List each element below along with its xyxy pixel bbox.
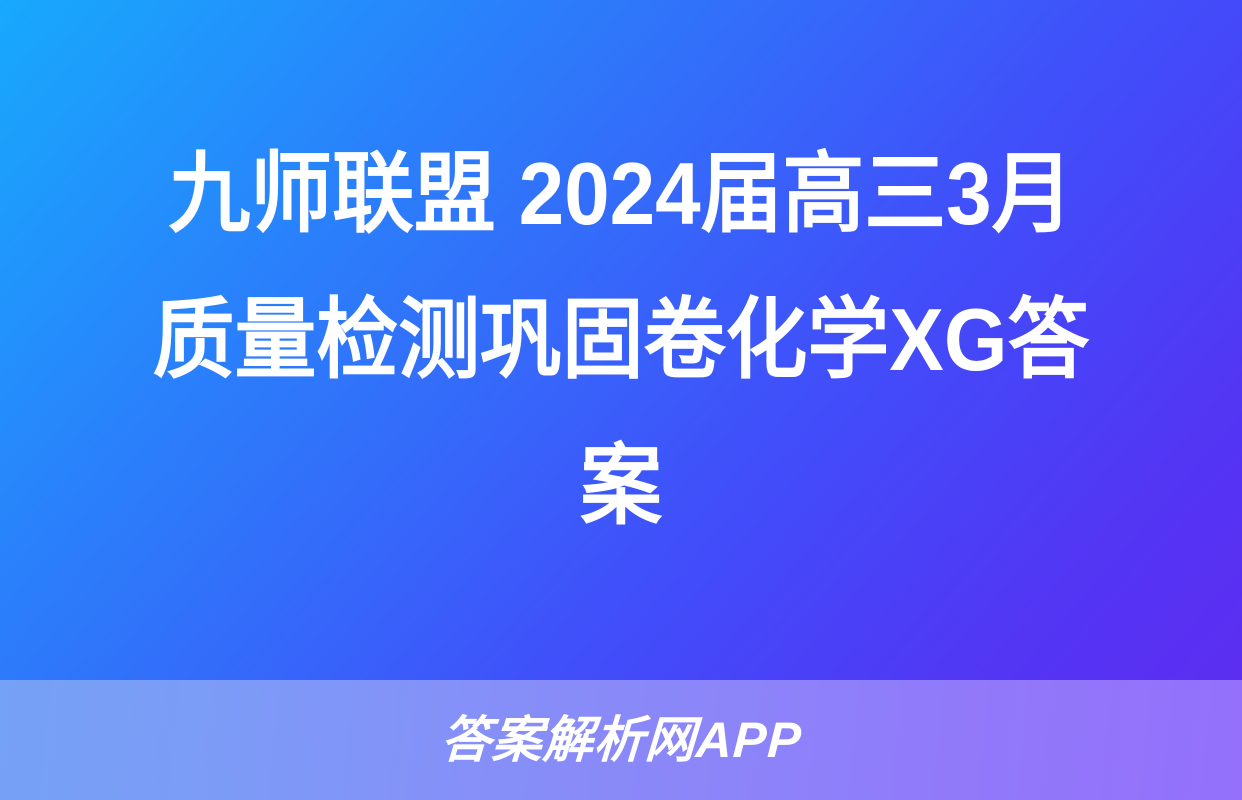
- hero-banner: 九师联盟 2024届高三3月质量检测巩固卷化学XG答案: [0, 0, 1242, 680]
- footer-watermark-band: 答案解析网APP: [0, 680, 1242, 800]
- page-title: 九师联盟 2024届高三3月质量检测巩固卷化学XG答案: [142, 121, 1100, 559]
- app-watermark-label: 答案解析网APP: [439, 712, 803, 768]
- promo-card: 九师联盟 2024届高三3月质量检测巩固卷化学XG答案 答案解析网APP: [0, 0, 1242, 800]
